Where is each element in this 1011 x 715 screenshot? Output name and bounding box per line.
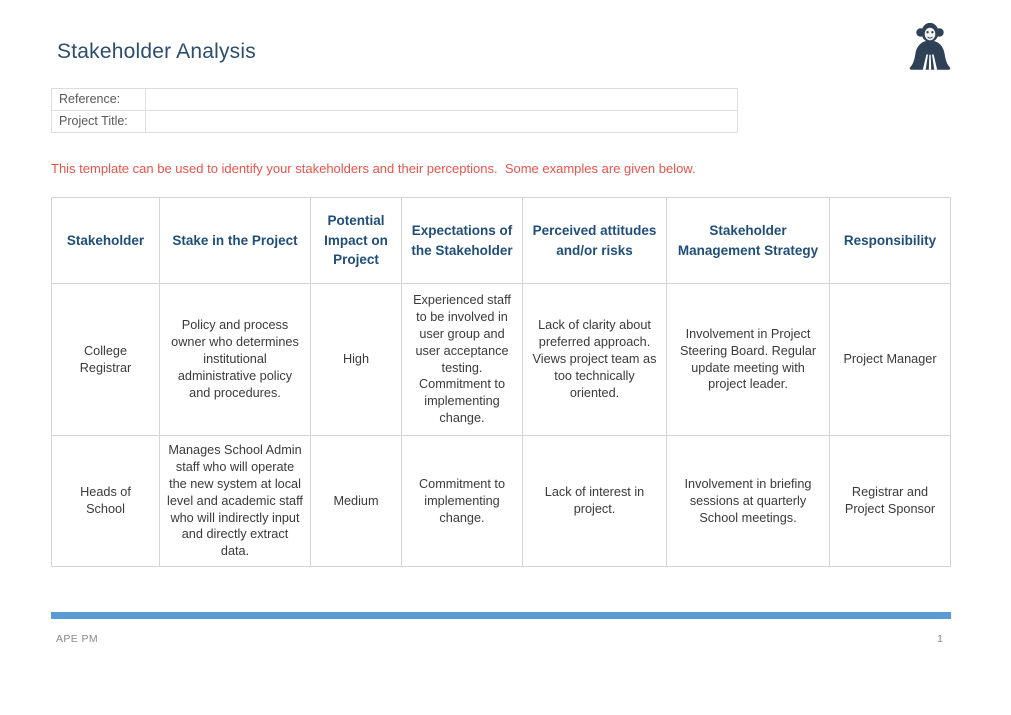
project-title-label: Project Title: (52, 111, 146, 132)
cell-stakeholder[interactable]: College Registrar (52, 284, 160, 436)
cell-stakeholder[interactable]: Heads of School (52, 436, 160, 567)
column-header-strategy: Stakeholder Management Strategy (667, 198, 830, 284)
reference-label: Reference: (52, 89, 146, 110)
cell-attitudes[interactable]: Lack of clarity about preferred approach… (523, 284, 667, 436)
table-row: College Registrar Policy and process own… (52, 284, 951, 436)
project-title-input[interactable] (146, 111, 737, 132)
cell-responsibility[interactable]: Project Manager (830, 284, 951, 436)
column-header-responsibility: Responsibility (830, 198, 951, 284)
reference-input[interactable] (146, 89, 737, 110)
page-number: 1 (930, 633, 950, 645)
cell-expectations[interactable]: Experienced staff to be involved in user… (402, 284, 523, 436)
project-title-field-row: Project Title: (51, 110, 738, 133)
table-row: Heads of School Manages School Admin sta… (52, 436, 951, 567)
cell-attitudes[interactable]: Lack of interest in project. (523, 436, 667, 567)
page-title: Stakeholder Analysis (57, 40, 256, 64)
column-header-stake: Stake in the Project (160, 198, 311, 284)
column-header-expectations: Expectations of the Stakeholder (402, 198, 523, 284)
column-header-attitudes: Perceived attitudes and/or risks (523, 198, 667, 284)
cell-stake[interactable]: Policy and process owner who determines … (160, 284, 311, 436)
header-fields: Reference: Project Title: (51, 88, 738, 133)
stakeholder-analysis-table: Stakeholder Stake in the Project Potenti… (51, 197, 951, 567)
footer-label: APE PM (56, 633, 98, 645)
ape-logo-icon (906, 21, 954, 73)
instruction-text: This template can be used to identify yo… (51, 161, 696, 176)
cell-responsibility[interactable]: Registrar and Project Sponsor (830, 436, 951, 567)
cell-expectations[interactable]: Commitment to implementing change. (402, 436, 523, 567)
document-page: Stakeholder Analysis (0, 0, 1011, 715)
column-header-impact: Potential Impact on Project (311, 198, 402, 284)
cell-stake[interactable]: Manages School Admin staff who will oper… (160, 436, 311, 567)
cell-strategy[interactable]: Involvement in Project Steering Board. R… (667, 284, 830, 436)
footer-accent-bar (51, 612, 951, 619)
cell-impact[interactable]: Medium (311, 436, 402, 567)
reference-field-row: Reference: (51, 88, 738, 110)
cell-strategy[interactable]: Involvement in briefing sessions at quar… (667, 436, 830, 567)
table-header-row: Stakeholder Stake in the Project Potenti… (52, 198, 951, 284)
cell-impact[interactable]: High (311, 284, 402, 436)
column-header-stakeholder: Stakeholder (52, 198, 160, 284)
